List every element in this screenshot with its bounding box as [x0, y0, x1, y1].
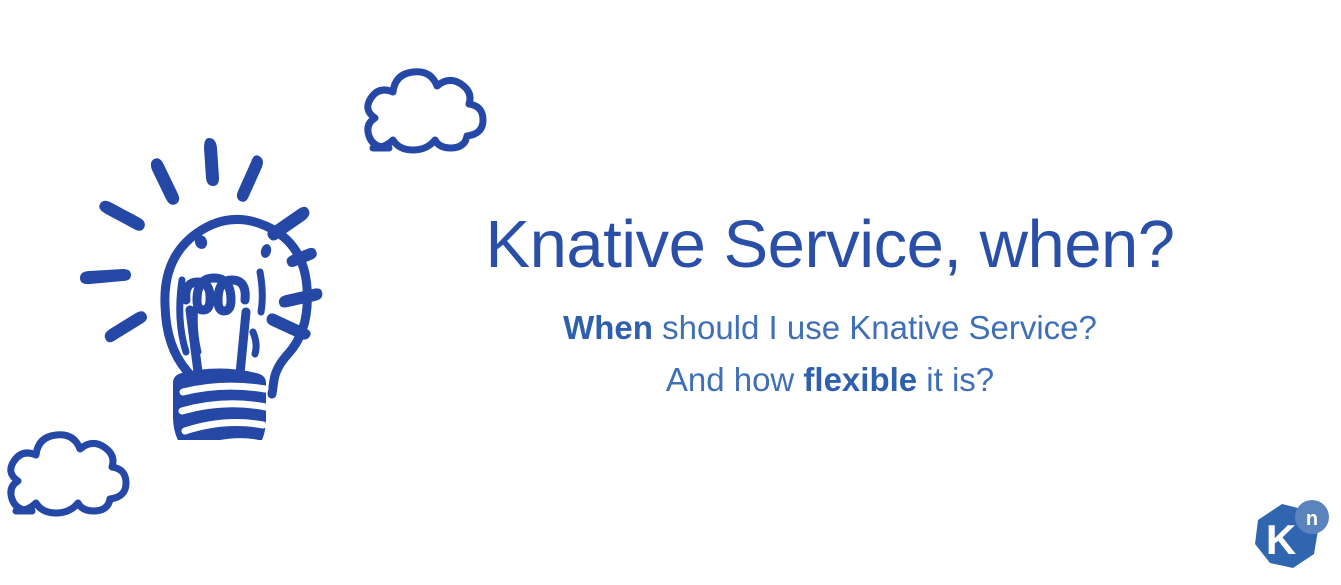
cloud-top-icon [345, 58, 505, 168]
slide-canvas: Knative Service, when? When should I use… [0, 0, 1341, 585]
subtitle-block: When should I use Knative Service? And h… [400, 302, 1260, 405]
lightbulb-icon [70, 120, 370, 440]
subtitle-line-1: When should I use Knative Service? [400, 302, 1260, 353]
subtitle-line-2-bold: flexible [803, 361, 917, 398]
cloud-bottom-icon [0, 423, 150, 528]
page-title: Knative Service, when? [400, 210, 1260, 280]
knative-logo: K n [1248, 498, 1334, 578]
subtitle-line-2-rest: it is? [917, 361, 994, 398]
subtitle-line-2: And how flexible it is? [400, 354, 1260, 405]
knative-logo-letter: K [1266, 516, 1296, 563]
subtitle-line-1-rest: should I use Knative Service? [653, 309, 1097, 346]
slide-text-block: Knative Service, when? When should I use… [400, 210, 1260, 405]
subtitle-line-2-prefix: And how [666, 361, 804, 398]
knative-logo-badge-letter: n [1306, 508, 1318, 530]
subtitle-line-1-bold: When [563, 309, 653, 346]
